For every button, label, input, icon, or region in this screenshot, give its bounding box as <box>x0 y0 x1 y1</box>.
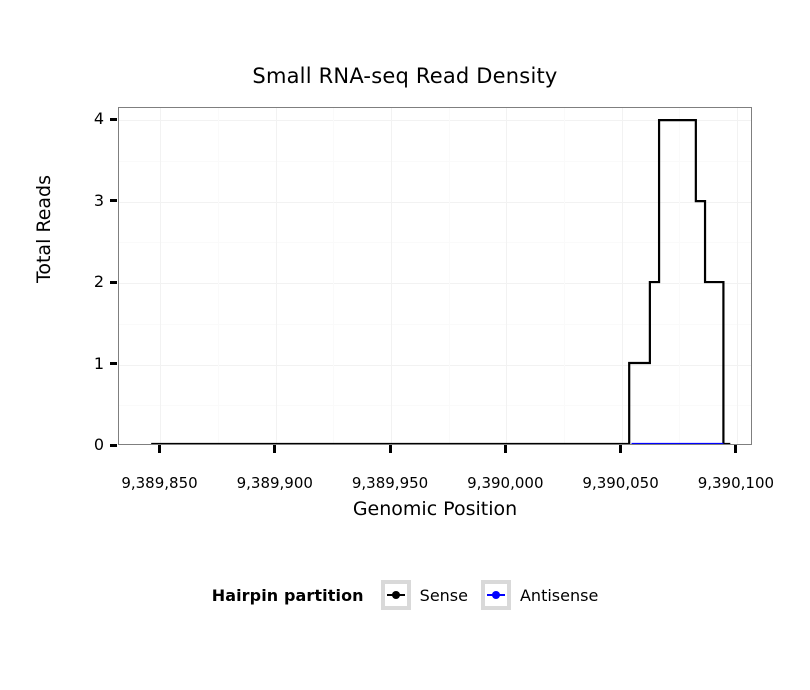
x-axis-title: Genomic Position <box>118 498 752 520</box>
x-tick-label: 9,389,900 <box>210 474 340 492</box>
x-tick <box>273 445 276 453</box>
legend-key-point-icon <box>492 591 500 599</box>
legend-key-point-icon <box>392 591 400 599</box>
x-tick <box>504 445 507 453</box>
y-tick-label: 2 <box>80 274 104 290</box>
x-tick <box>734 445 737 453</box>
y-tick-label: 4 <box>80 111 104 127</box>
plot-panel <box>118 107 752 445</box>
series-line-sense <box>151 120 730 444</box>
legend-item-antisense[interactable]: Antisense <box>481 580 598 610</box>
legend-title: Hairpin partition <box>212 586 364 605</box>
legend: Hairpin partition SenseAntisense <box>0 580 810 610</box>
y-tick-label: 1 <box>80 356 104 372</box>
x-tick-label: 9,389,950 <box>325 474 455 492</box>
legend-key-antisense <box>481 580 511 610</box>
chart-figure: Small RNA-seq Read Density Total Reads G… <box>0 0 810 690</box>
x-tick-label: 9,390,050 <box>556 474 686 492</box>
legend-item-sense[interactable]: Sense <box>381 580 468 610</box>
y-tick <box>110 362 117 365</box>
data-series-layer <box>119 108 751 444</box>
x-tick <box>158 445 161 453</box>
y-tick <box>110 444 117 447</box>
y-tick-label: 3 <box>80 193 104 209</box>
y-tick <box>110 199 117 202</box>
legend-label: Sense <box>420 586 468 605</box>
y-tick <box>110 281 117 284</box>
x-tick <box>389 445 392 453</box>
y-tick <box>110 118 117 121</box>
y-tick-label: 0 <box>80 437 104 453</box>
y-axis-title: Total Reads <box>33 119 55 339</box>
legend-key-sense <box>381 580 411 610</box>
x-tick-label: 9,390,100 <box>671 474 801 492</box>
chart-title: Small RNA-seq Read Density <box>0 64 810 88</box>
x-tick-label: 9,390,000 <box>440 474 570 492</box>
legend-label: Antisense <box>520 586 598 605</box>
x-tick <box>619 445 622 453</box>
x-tick-label: 9,389,850 <box>94 474 224 492</box>
legend-items: SenseAntisense <box>381 580 599 610</box>
